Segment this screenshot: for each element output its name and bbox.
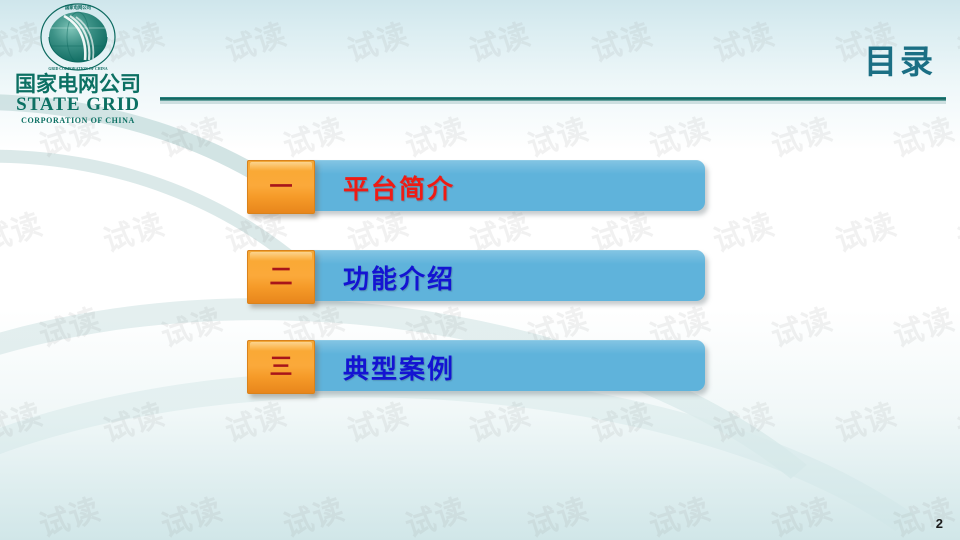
- watermark-text: 试读: [951, 199, 960, 260]
- toc-item-number: 二: [270, 266, 293, 289]
- toc-item[interactable]: 三 典型案例: [247, 340, 707, 392]
- watermark-text: 试读: [829, 199, 902, 260]
- toc-item-number: 三: [270, 356, 293, 379]
- toc-item[interactable]: 二 功能介绍: [247, 250, 707, 302]
- watermark-text: 试读: [707, 199, 780, 260]
- page-number: 2: [936, 516, 943, 531]
- toc-item-number-box[interactable]: 二: [247, 250, 315, 304]
- number-box-highlight: [250, 342, 312, 351]
- logo-company-name-cn: 国家电网公司: [8, 73, 148, 95]
- svg-text:GRID CORPORATION OF CHINA: GRID CORPORATION OF CHINA: [48, 67, 107, 71]
- toc-item-label: 功能介绍: [343, 259, 455, 296]
- toc-item-number: 一: [270, 176, 293, 199]
- watermark-text: 试读: [97, 199, 170, 260]
- toc-item[interactable]: 一 平台简介: [247, 160, 707, 212]
- title-divider-shadow: [160, 101, 946, 104]
- table-of-contents: 一 平台简介 二 功能介绍 三 典型案例: [247, 160, 707, 430]
- number-box-highlight: [250, 252, 312, 261]
- company-logo: 国家电网公司 GRID CORPORATION OF CHINA 国家电网公司 …: [8, 2, 148, 126]
- number-box-highlight: [250, 162, 312, 171]
- watermark-text: 试读: [0, 199, 47, 260]
- presentation-slide: 试读试读试读试读试读试读试读试读试读试读试读试读试读试读试读试读试读试读试读试读…: [0, 0, 960, 540]
- logo-company-name-en: STATE GRID: [8, 95, 148, 115]
- toc-item-label: 典型案例: [343, 349, 455, 386]
- page-title: 目录: [864, 35, 936, 83]
- svg-text:国家电网公司: 国家电网公司: [65, 4, 91, 11]
- toc-item-number-box[interactable]: 三: [247, 340, 315, 394]
- toc-item-number-box[interactable]: 一: [247, 160, 315, 214]
- state-grid-globe-icon: 国家电网公司 GRID CORPORATION OF CHINA: [39, 2, 117, 72]
- toc-item-label: 平台简介: [343, 169, 455, 206]
- logo-company-subtitle-en: CORPORATION OF CHINA: [8, 115, 148, 126]
